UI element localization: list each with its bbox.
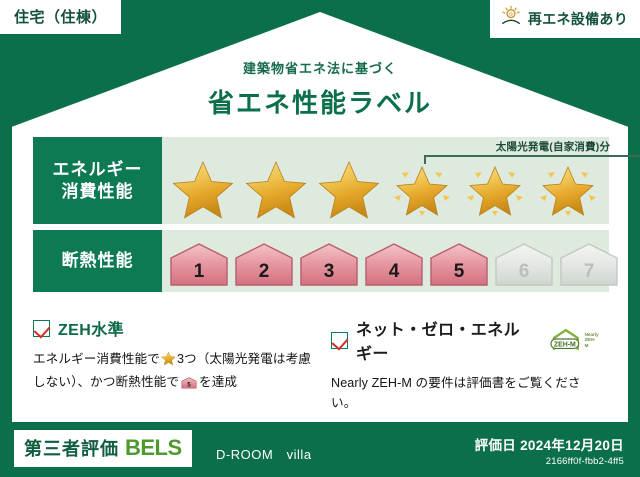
- insulation-level-item: 2: [233, 242, 295, 288]
- project-name: D-ROOM villa: [216, 444, 312, 463]
- star-item: [312, 159, 385, 221]
- zeh-m-logo-subtext: Nearly ZEH-M: [585, 332, 599, 348]
- zeh-desc-part3: を達成: [199, 375, 237, 389]
- net-zero-energy-header: ネット・ゼロ・エネルギー ZEH-M Nearly ZEH-M: [331, 316, 599, 364]
- certification-details: ZEH水準 エネルギー消費性能で3つ（太陽光発電は考慮しない）、かつ断熱性能で5…: [33, 316, 609, 414]
- zeh-standard-description: エネルギー消費性能で3つ（太陽光発電は考慮しない）、かつ断熱性能で5を達成: [33, 349, 311, 397]
- insulation-levels-panel: 1 2 3: [162, 230, 609, 292]
- insulation-level-strip: 1 2 3: [162, 242, 609, 288]
- zeh-standard-panel: ZEH水準 エネルギー消費性能で3つ（太陽光発電は考慮しない）、かつ断熱性能で5…: [33, 316, 321, 414]
- zeh-standard-header: ZEH水準: [33, 316, 311, 340]
- insulation-performance-row: 断熱性能 1 2: [33, 230, 609, 292]
- zeh-m-logo-text: ZEH-M: [554, 341, 576, 348]
- net-zero-energy-panel: ネット・ゼロ・エネルギー ZEH-M Nearly ZEH-M Nearly Z…: [321, 316, 609, 414]
- bels-logo-text: BELS: [125, 435, 182, 461]
- insulation-level-item-inactive: 6: [493, 242, 555, 288]
- insulation-level-number: 5: [454, 261, 465, 282]
- insulation-level-item-inactive: 7: [558, 242, 620, 288]
- zeh-desc-part1: エネルギー消費性能で: [33, 352, 160, 366]
- evaluation-info: 評価日 2024年12月20日 2166ff0f-fbb2-4ff5: [475, 434, 624, 467]
- label-title-block: 建築物省エネ法に基づく 省エネ性能ラベル: [0, 58, 640, 120]
- svg-text:D: D: [509, 12, 513, 18]
- inline-house-badge-icon: 5: [181, 379, 197, 393]
- energy-label-line2: 消費性能: [62, 181, 134, 202]
- check-icon: [331, 332, 348, 349]
- ratings-section: エネルギー 消費性能 太陽光発電(自家消費)分: [33, 137, 609, 298]
- insulation-level-number: 3: [324, 261, 335, 282]
- insulation-level-item: 4: [363, 242, 425, 288]
- bels-badge: 第三者評価 BELS: [14, 430, 192, 467]
- inline-star-icon: [161, 355, 176, 369]
- zeh-m-sub-line2: ZEH-M: [585, 337, 596, 347]
- inline-house-number: 5: [187, 382, 191, 389]
- energy-label-line1: エネルギー: [53, 159, 143, 180]
- title-subtitle: 建築物省エネ法に基づく: [0, 58, 640, 77]
- page-title: 省エネ性能ラベル: [0, 83, 640, 120]
- insulation-level-number: 4: [389, 261, 400, 282]
- star-rating-strip: [162, 159, 609, 221]
- zeh-m-sub-line1: Nearly: [585, 332, 599, 337]
- energy-performance-label: エネルギー 消費性能: [33, 137, 162, 224]
- star-item-solar: [386, 159, 459, 221]
- star-item-solar: [532, 159, 605, 221]
- energy-label-card: 住宅（住棟） D 再エネ設備あり 建築物省エネ法に基づく 省エネ性能ラベル: [0, 0, 640, 477]
- insulation-level-number: 2: [259, 261, 270, 282]
- solar-generation-note: 太陽光発電(自家消費)分: [418, 139, 640, 154]
- energy-performance-row: エネルギー 消費性能 太陽光発電(自家消費)分: [33, 137, 609, 224]
- insulation-level-number: 6: [519, 261, 530, 282]
- evaluation-date: 評価日 2024年12月20日: [475, 434, 624, 454]
- insulation-level-number: 7: [584, 261, 595, 282]
- insulation-level-item: 1: [168, 242, 230, 288]
- energy-stars-panel: 太陽光発電(自家消費)分: [162, 137, 609, 224]
- zeh-standard-title: ZEH水準: [58, 316, 124, 340]
- insulation-level-item-achieved: 5: [428, 242, 490, 288]
- insulation-label-line1: 断熱性能: [62, 250, 134, 271]
- solar-bracket: [424, 155, 640, 164]
- renewable-badge-label: 再エネ設備あり: [528, 9, 628, 29]
- label-footer: 第三者評価 BELS D-ROOM villa 評価日 2024年12月20日 …: [0, 422, 640, 477]
- dwelling-type-tag: 住宅（住棟）: [0, 0, 121, 34]
- bels-japanese-label: 第三者評価: [24, 435, 119, 461]
- insulation-level-number: 1: [194, 261, 205, 282]
- net-zero-energy-description: Nearly ZEH-M の要件は評価書をご覧ください。: [331, 373, 599, 414]
- sun-icon: D: [500, 5, 522, 32]
- star-item-solar: [459, 159, 532, 221]
- net-zero-energy-title: ネット・ゼロ・エネルギー: [356, 316, 535, 364]
- insulation-level-item: 3: [298, 242, 360, 288]
- insulation-performance-label: 断熱性能: [33, 230, 162, 292]
- star-item: [166, 159, 239, 221]
- renewable-equipment-badge: D 再エネ設備あり: [490, 0, 640, 38]
- star-item: [239, 159, 312, 221]
- zeh-m-logo: ZEH-M Nearly ZEH-M: [549, 328, 599, 352]
- check-icon: [33, 320, 50, 337]
- evaluation-id: 2166ff0f-fbb2-4ff5: [475, 456, 624, 467]
